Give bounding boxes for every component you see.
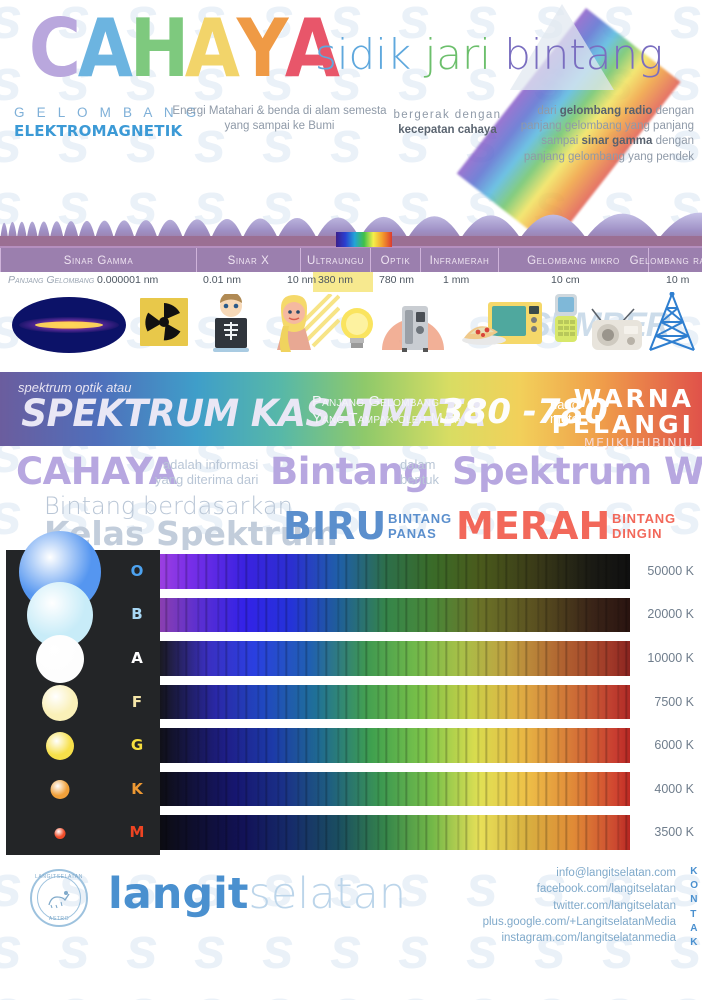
kontak-letter-0: K bbox=[690, 865, 698, 879]
sentence-cahaya-row: CAHAYA adalah informasi yang diterima da… bbox=[0, 446, 702, 492]
pelangi-line: PELANGI bbox=[552, 412, 694, 438]
wavelength-value-7: 10 m bbox=[666, 274, 689, 286]
spectrum-segment-gelombang-mikro: Gelombang mikro bbox=[498, 248, 648, 274]
temperature-O: 50000 K bbox=[647, 564, 694, 578]
intro-block-energi: Energi Matahari & benda di alam semesta … bbox=[172, 104, 387, 134]
title-letter-1: A bbox=[78, 10, 132, 90]
wavelength-row-label: Panjang Gelombang bbox=[8, 274, 94, 286]
sun-tanning-uv-icon bbox=[265, 294, 340, 354]
temperature-K: 4000 K bbox=[654, 782, 694, 796]
contacts-list: info@langitselatan.comfacebook.com/langi… bbox=[483, 865, 676, 947]
kontak-vertical-label: KONTAK bbox=[690, 865, 698, 950]
visible-spectrum-band: spektrum optik atau SPEKTRUM KASATMATA P… bbox=[0, 372, 702, 446]
subtitle-word-bintang: bintang bbox=[504, 30, 663, 79]
bintang-panas-label: BINTANG PANAS bbox=[388, 512, 452, 542]
wavelength-value-4: 780 nm bbox=[379, 274, 414, 286]
kecepatan-line-1: bergerak dengan bbox=[385, 108, 510, 123]
spectral-class-G: G bbox=[114, 736, 160, 754]
kontak-letter-2: N bbox=[690, 893, 698, 907]
gamma-ray-sky-map-icon bbox=[12, 296, 127, 354]
intro-block-kecepatan: bergerak dengan kecepatan cahaya bbox=[385, 108, 510, 138]
spectrum-segment-ultraungu: Ultraungu bbox=[300, 248, 370, 274]
absorption-lines-B bbox=[160, 598, 630, 633]
spectrum-strip-F bbox=[160, 683, 630, 722]
wavelength-value-2: 10 nm bbox=[287, 274, 316, 286]
spectrum-strip-A bbox=[160, 639, 630, 678]
mobile-phone-icon bbox=[551, 292, 581, 344]
star-disc-A bbox=[36, 635, 84, 683]
title-letter-2: H bbox=[129, 10, 188, 90]
star-disc-G bbox=[46, 732, 74, 760]
source-icons-row: SUMBER bbox=[0, 292, 702, 364]
spectrum-strip-B bbox=[160, 596, 630, 635]
biru-word: BIRU bbox=[283, 504, 386, 548]
kontak-letter-4: A bbox=[690, 922, 698, 936]
spectral-class-column: OBAFGKM bbox=[114, 550, 160, 855]
subtitle-word-sidik: sidik bbox=[315, 30, 425, 79]
centaur-icon bbox=[45, 887, 73, 909]
absorption-lines-G bbox=[160, 728, 630, 763]
spectrum-segment-sinar-gamma: Sinar Gamma bbox=[0, 248, 196, 274]
spectral-class-O: O bbox=[114, 562, 160, 580]
absorption-lines-F bbox=[160, 685, 630, 720]
absorption-lines-K bbox=[160, 772, 630, 807]
sentence-kelas-spektrum-row: Bintang berdasarkan Kelas Spektrum BIRU … bbox=[0, 492, 702, 544]
brand-langit: langit bbox=[108, 869, 248, 919]
contact-line-0[interactable]: info@langitselatan.com bbox=[483, 865, 676, 881]
warna-line: WARNA bbox=[552, 386, 694, 412]
langitselatan-seal-logo: LANGITSELATAN ASTRO bbox=[30, 869, 88, 927]
temperature-column: 50000 K20000 K10000 K7500 K6000 K4000 K3… bbox=[630, 550, 702, 855]
dalam-line-2: bentuk bbox=[400, 473, 439, 488]
adalah-informasi-text: adalah informasi yang diterima dari bbox=[155, 458, 258, 487]
stellar-spectral-class-chart: OBAFGKM 50000 K20000 K10000 K7500 K6000 … bbox=[0, 550, 702, 855]
wavelength-row: Panjang Gelombang 0.000001 nm0.01 nm10 n… bbox=[0, 272, 702, 292]
x-ray-scan-icon bbox=[205, 294, 257, 356]
wavelength-value-3: 380 nm bbox=[318, 274, 353, 286]
spectrum-strip-K bbox=[160, 770, 630, 809]
kecepatan-line-2: kecepatan cahaya bbox=[398, 124, 496, 136]
absorption-lines-A bbox=[160, 641, 630, 676]
contact-line-4[interactable]: instagram.com/langitselatanmedia bbox=[483, 930, 676, 946]
brand-wordmark: langitselatan bbox=[108, 873, 406, 916]
title-letter-3: A bbox=[185, 10, 239, 90]
contact-line-1[interactable]: facebook.com/langitselatan bbox=[483, 881, 676, 897]
spektrum-warna-word: Spektrum Warna bbox=[452, 450, 702, 493]
cahaya-word: CAHAYA bbox=[16, 450, 177, 493]
subtitle-word-jari: jari bbox=[425, 30, 505, 79]
spectrum-strip-G bbox=[160, 726, 630, 765]
star-disc-F bbox=[42, 685, 78, 721]
adalah-line-2: yang diterima dari bbox=[155, 473, 258, 488]
absorption-lines-O bbox=[160, 554, 630, 589]
kontak-letter-1: O bbox=[690, 879, 698, 893]
page-subtitle: sidik jari bintang bbox=[315, 30, 663, 79]
spectrum-segment-gelombang-radio: Gelombang radio bbox=[648, 248, 702, 274]
optik-rainbow-icon bbox=[336, 232, 392, 247]
temperature-G: 6000 K bbox=[654, 738, 694, 752]
temperature-A: 10000 K bbox=[647, 651, 694, 665]
dalam-line-1: dalam bbox=[400, 458, 439, 473]
title-letter-0: C bbox=[29, 10, 80, 90]
spectrum-segment-inframerah: Inframerah bbox=[420, 248, 498, 274]
header: CAHAYA sidik jari bintang bbox=[0, 0, 702, 96]
dingin-line-1: BINTANG bbox=[612, 512, 676, 527]
spectral-class-M: M bbox=[114, 823, 160, 841]
contact-line-3[interactable]: plus.google.com/+LangitselatanMedia bbox=[483, 914, 676, 930]
page-title: CAHAYA bbox=[30, 16, 338, 84]
wavelength-value-6: 10 cm bbox=[551, 274, 580, 286]
infrared-heater-icon bbox=[378, 294, 448, 352]
bintang-dingin-label: BINTANG DINGIN bbox=[612, 512, 676, 542]
spectrum-segment-sinar-x: Sinar X bbox=[196, 248, 300, 274]
electromagnetic-spectrum-bar: Sinar GammaSinar XUltraunguOptikInframer… bbox=[0, 246, 702, 272]
kontak-letter-3: T bbox=[690, 908, 698, 922]
stellar-spectra-column bbox=[160, 550, 630, 855]
seal-top-text: LANGITSELATAN bbox=[32, 874, 86, 880]
temperature-M: 3500 K bbox=[654, 825, 694, 839]
infographic-page: CAHAYA sidik jari bintang G E L O M B A … bbox=[0, 0, 702, 1000]
radio-receiver-icon bbox=[588, 308, 646, 350]
star-size-column bbox=[6, 550, 114, 855]
star-disc-M bbox=[55, 828, 66, 839]
temperature-B: 20000 K bbox=[647, 607, 694, 621]
spectral-class-K: K bbox=[114, 780, 160, 798]
wavelength-value-5: 1 mm bbox=[443, 274, 469, 286]
spectrum-strip-O bbox=[160, 552, 630, 591]
spectral-class-F: F bbox=[114, 693, 160, 711]
radio-tower-icon bbox=[645, 292, 700, 352]
absorption-lines-M bbox=[160, 815, 630, 850]
spectrum-strip-M bbox=[160, 813, 630, 852]
seal-inner bbox=[37, 876, 81, 920]
contact-line-2[interactable]: twitter.com/langitselatan bbox=[483, 898, 676, 914]
spectrum-segment-optik: Optik bbox=[370, 248, 420, 274]
adalah-line-1: adalah informasi bbox=[155, 458, 258, 473]
wavelength-value-0: 0.000001 nm bbox=[97, 274, 158, 286]
temperature-F: 7500 K bbox=[654, 695, 694, 709]
radiation-hazard-icon bbox=[140, 298, 188, 346]
seal-bottom-text: ASTRO bbox=[32, 916, 86, 922]
wavelength-value-1: 0.01 nm bbox=[203, 274, 241, 286]
warna-pelangi-label: WARNA PELANGI MEJIKUHIBINIU bbox=[552, 386, 694, 450]
intro-block-radio-gamma: dari gelombang radio dengan panjang gelo… bbox=[508, 104, 694, 165]
spectral-class-A: A bbox=[114, 649, 160, 667]
panas-line-1: BINTANG bbox=[388, 512, 452, 527]
title-letter-4: Y bbox=[237, 10, 288, 90]
brand-selatan: selatan bbox=[248, 869, 406, 919]
intro-text-row: G E L O M B A N G ELEKTROMAGNETIK Energi… bbox=[0, 96, 702, 186]
kontak-letter-5: K bbox=[690, 936, 698, 950]
merah-word: MERAH bbox=[456, 504, 610, 548]
panas-line-2: PANAS bbox=[388, 527, 452, 542]
spectral-class-B: B bbox=[114, 605, 160, 623]
footer: LANGITSELATAN ASTRO langitselatan info@l… bbox=[0, 855, 702, 939]
light-bulb-icon bbox=[337, 304, 377, 352]
dingin-line-2: DINGIN bbox=[612, 527, 676, 542]
dalam-bentuk-text: dalam bentuk bbox=[400, 458, 439, 487]
microwave-oven-icon bbox=[462, 300, 542, 348]
star-disc-K bbox=[51, 780, 70, 799]
